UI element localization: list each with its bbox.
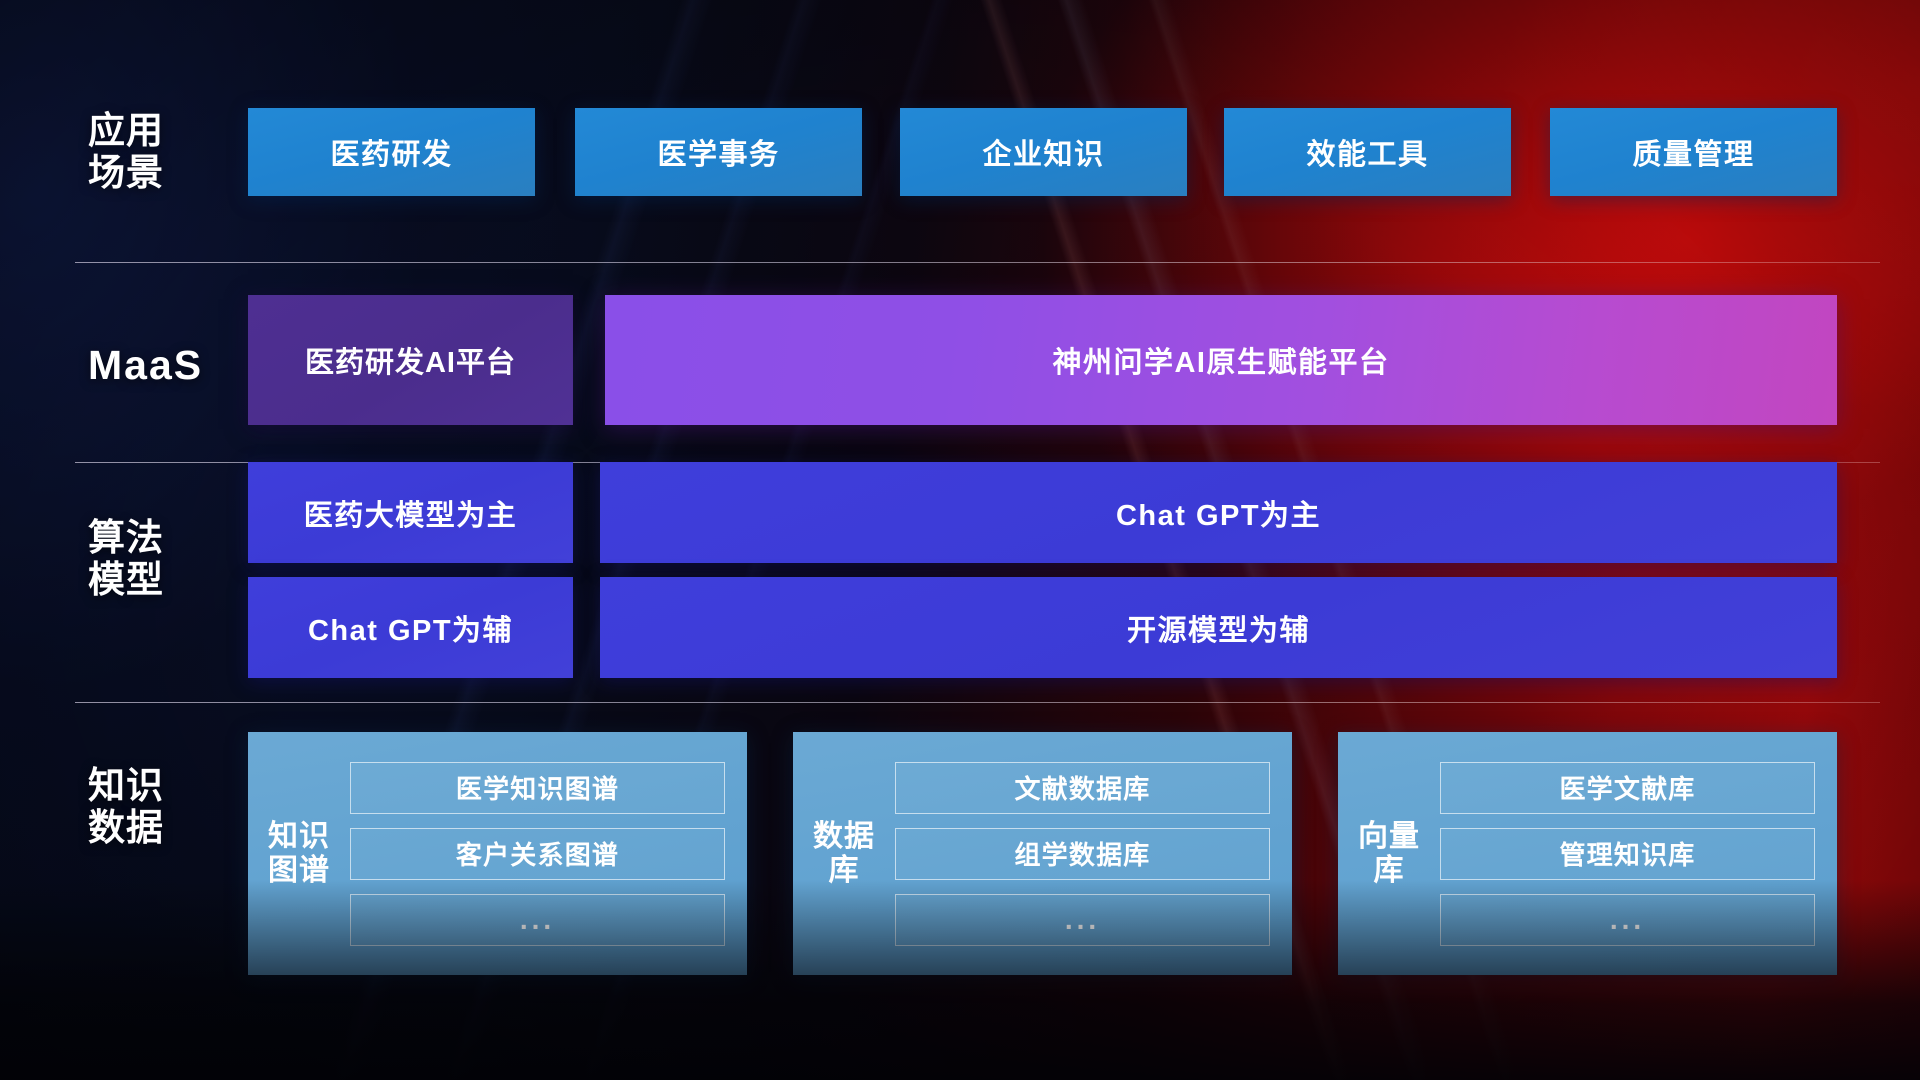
knowledge-item-omics-db[interactable]: 组学数据库 bbox=[895, 828, 1270, 880]
knowledge-group-vector-store-items: 医学文献库 管理知识库 ... bbox=[1434, 746, 1837, 962]
algo-box-chatgpt-secondary[interactable]: Chat GPT为辅 bbox=[248, 577, 573, 678]
knowledge-item-customer-graph[interactable]: 客户关系图谱 bbox=[350, 828, 725, 880]
app-box-efficiency-tools[interactable]: 效能工具 bbox=[1224, 108, 1511, 196]
row-label-algorithm-line1: 算法 bbox=[88, 517, 238, 559]
row-label-knowledge: 知识 数据 bbox=[88, 765, 238, 849]
row-label-application-line1: 应用 bbox=[88, 110, 238, 152]
app-box-medical-affairs[interactable]: 医学事务 bbox=[575, 108, 862, 196]
algo-box-drug-large-model-primary[interactable]: 医药大模型为主 bbox=[248, 462, 573, 563]
knowledge-group-graph: 知识图谱 医学知识图谱 客户关系图谱 ... bbox=[248, 732, 747, 975]
row-maas: MaaS 医药研发AI平台 神州问学AI原生赋能平台 bbox=[0, 270, 1920, 430]
knowledge-item-graph-more[interactable]: ... bbox=[350, 894, 725, 946]
knowledge-group-database: 数据库 文献数据库 组学数据库 ... bbox=[793, 732, 1292, 975]
app-box-enterprise-knowledge[interactable]: 企业知识 bbox=[900, 108, 1187, 196]
divider-after-application bbox=[75, 262, 1880, 263]
app-box-quality-management[interactable]: 质量管理 bbox=[1550, 108, 1837, 196]
row-label-application-line2: 场景 bbox=[88, 152, 238, 194]
row-knowledge-data: 知识 数据 知识图谱 医学知识图谱 客户关系图谱 ... 数据库 文献数据库 组… bbox=[0, 702, 1920, 1022]
knowledge-group-graph-title: 知识图谱 bbox=[248, 820, 344, 887]
knowledge-group-database-items: 文献数据库 组学数据库 ... bbox=[889, 746, 1292, 962]
row-label-algorithm-line2: 模型 bbox=[88, 559, 238, 601]
knowledge-item-database-more[interactable]: ... bbox=[895, 894, 1270, 946]
row-label-knowledge-line1: 知识 bbox=[88, 765, 238, 807]
row-label-knowledge-line2: 数据 bbox=[88, 807, 238, 849]
knowledge-group-database-title: 数据库 bbox=[793, 820, 889, 887]
row-algorithm-model: 算法 模型 医药大模型为主 Chat GPT为主 Chat GPT为辅 开源模型… bbox=[0, 462, 1920, 702]
knowledge-item-vector-store-more[interactable]: ... bbox=[1440, 894, 1815, 946]
knowledge-group-vector-store-title: 向量库 bbox=[1338, 820, 1434, 887]
knowledge-group-vector-store: 向量库 医学文献库 管理知识库 ... bbox=[1338, 732, 1837, 975]
knowledge-item-medical-literature-store[interactable]: 医学文献库 bbox=[1440, 762, 1815, 814]
algo-box-opensource-secondary[interactable]: 开源模型为辅 bbox=[600, 577, 1837, 678]
maas-box-shenzhou-wenxue-platform[interactable]: 神州问学AI原生赋能平台 bbox=[605, 295, 1837, 425]
app-box-drug-rd[interactable]: 医药研发 bbox=[248, 108, 535, 196]
row-label-application: 应用 场景 bbox=[88, 110, 238, 194]
row-label-maas: MaaS bbox=[88, 342, 238, 389]
knowledge-item-management-knowledge-store[interactable]: 管理知识库 bbox=[1440, 828, 1815, 880]
knowledge-group-graph-items: 医学知识图谱 客户关系图谱 ... bbox=[344, 746, 747, 962]
row-application-scenarios: 应用 场景 医药研发 医学事务 企业知识 效能工具 质量管理 bbox=[0, 0, 1920, 270]
row-label-algorithm: 算法 模型 bbox=[88, 517, 238, 601]
maas-box-drug-rd-ai-platform[interactable]: 医药研发AI平台 bbox=[248, 295, 573, 425]
algo-box-chatgpt-primary[interactable]: Chat GPT为主 bbox=[600, 462, 1837, 563]
knowledge-item-literature-db[interactable]: 文献数据库 bbox=[895, 762, 1270, 814]
knowledge-item-medical-graph[interactable]: 医学知识图谱 bbox=[350, 762, 725, 814]
slide-canvas: 应用 场景 医药研发 医学事务 企业知识 效能工具 质量管理 MaaS 医药研发… bbox=[0, 0, 1920, 1080]
